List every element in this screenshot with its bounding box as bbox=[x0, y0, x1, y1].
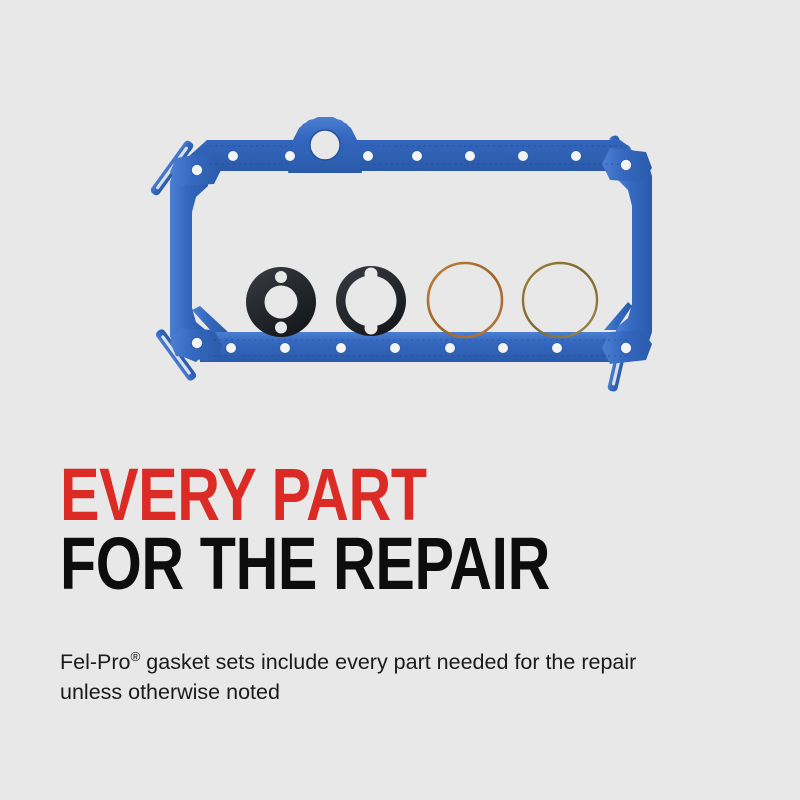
registered-trademark-icon: ® bbox=[130, 649, 140, 664]
headline-line-2: FOR THE REPAIR bbox=[60, 531, 620, 598]
body-copy: Fel-Pro® gasket sets include every part … bbox=[60, 648, 700, 707]
copper-o-ring bbox=[428, 263, 502, 337]
oil-pan-gasket-set-illustration bbox=[0, 60, 800, 430]
main-oil-pan-gasket bbox=[170, 117, 652, 364]
brand-name: Fel-Pro bbox=[60, 650, 130, 674]
headline-line-1: EVERY PART bbox=[60, 462, 620, 529]
black-ring-gasket-thin bbox=[336, 266, 406, 336]
promo-page: EVERY PART FOR THE REPAIR Fel-Pro® gaske… bbox=[0, 0, 800, 800]
brass-o-ring bbox=[523, 263, 597, 337]
body-copy-rest: gasket sets include every part needed fo… bbox=[60, 650, 636, 704]
product-image bbox=[0, 60, 800, 430]
headline-block: EVERY PART FOR THE REPAIR bbox=[60, 462, 760, 597]
black-ring-gasket-thick bbox=[246, 267, 316, 337]
